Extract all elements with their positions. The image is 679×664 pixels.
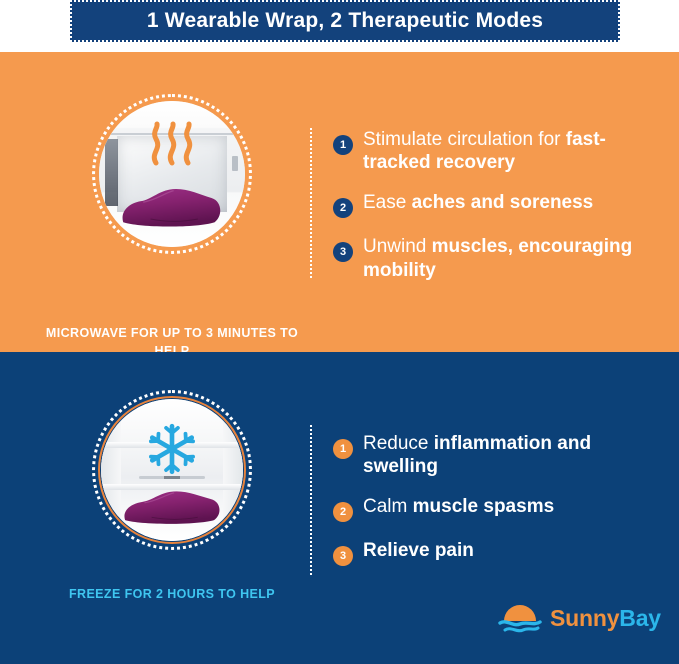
microwave-media bbox=[92, 94, 252, 254]
benefits-cold: 1 Reduce inflammation and swelling 2 Cal… bbox=[333, 432, 663, 583]
benefit-text: Calm muscle spasms bbox=[363, 495, 554, 518]
benefit-item: 2 Ease aches and soreness bbox=[333, 191, 663, 218]
benefit-bold-text: Relieve pain bbox=[363, 540, 474, 561]
benefit-lite-text: Calm bbox=[363, 496, 413, 517]
benefit-lite-text: Unwind bbox=[363, 236, 432, 257]
divider-warm bbox=[310, 128, 312, 278]
benefit-badge: 2 bbox=[333, 502, 353, 522]
brand-logo: SunnyBay bbox=[497, 600, 661, 636]
benefit-text: Unwind muscles, encouraging mobility bbox=[363, 235, 663, 281]
benefits-warm: 1 Stimulate circulation for fast-tracked… bbox=[333, 128, 663, 299]
benefit-badge: 3 bbox=[333, 242, 353, 262]
benefit-lite-text: Ease bbox=[363, 192, 412, 213]
benefit-text: Relieve pain bbox=[363, 539, 474, 562]
header-band: 1 Wearable Wrap, 2 Therapeutic Modes bbox=[0, 0, 679, 52]
logo-text: SunnyBay bbox=[550, 605, 661, 632]
benefit-bold-text: aches and soreness bbox=[412, 192, 594, 213]
benefit-item: 1 Stimulate circulation for fast-tracked… bbox=[333, 128, 663, 174]
benefit-item: 3 Unwind muscles, encouraging mobility bbox=[333, 235, 663, 281]
steam-icon bbox=[146, 119, 198, 167]
benefit-badge: 2 bbox=[333, 198, 353, 218]
sun-over-waves-icon bbox=[497, 600, 543, 636]
benefit-bold-text: muscle spasms bbox=[413, 496, 555, 517]
benefit-badge: 3 bbox=[333, 546, 353, 566]
title-bar: 1 Wearable Wrap, 2 Therapeutic Modes bbox=[70, 0, 620, 42]
purple-wrap-image bbox=[121, 481, 223, 526]
infographic-page: 1 Wearable Wrap, 2 Therapeutic Modes bbox=[0, 0, 679, 664]
benefit-text: Reduce inflammation and swelling bbox=[363, 432, 663, 478]
logo-secondary-text: Bay bbox=[619, 605, 661, 631]
page-title: 1 Wearable Wrap, 2 Therapeutic Modes bbox=[147, 9, 543, 33]
snowflake-icon bbox=[145, 422, 199, 476]
freezer-media bbox=[92, 390, 252, 550]
benefit-item: 2 Calm muscle spasms bbox=[333, 495, 663, 522]
benefit-lite-text: Reduce bbox=[363, 433, 434, 454]
freezer-caption: FREEZE FOR 2 HOURS TO HELP bbox=[42, 585, 302, 603]
benefit-item: 1 Reduce inflammation and swelling bbox=[333, 432, 663, 478]
purple-wrap-image bbox=[119, 177, 224, 230]
benefit-item: 3 Relieve pain bbox=[333, 539, 663, 566]
benefit-badge: 1 bbox=[333, 439, 353, 459]
benefit-text: Stimulate circulation for fast-tracked r… bbox=[363, 128, 663, 174]
logo-primary-text: Sunny bbox=[550, 605, 619, 631]
benefit-badge: 1 bbox=[333, 135, 353, 155]
divider-cold bbox=[310, 425, 312, 575]
benefit-text: Ease aches and soreness bbox=[363, 191, 593, 214]
benefit-lite-text: Stimulate circulation for bbox=[363, 129, 566, 150]
